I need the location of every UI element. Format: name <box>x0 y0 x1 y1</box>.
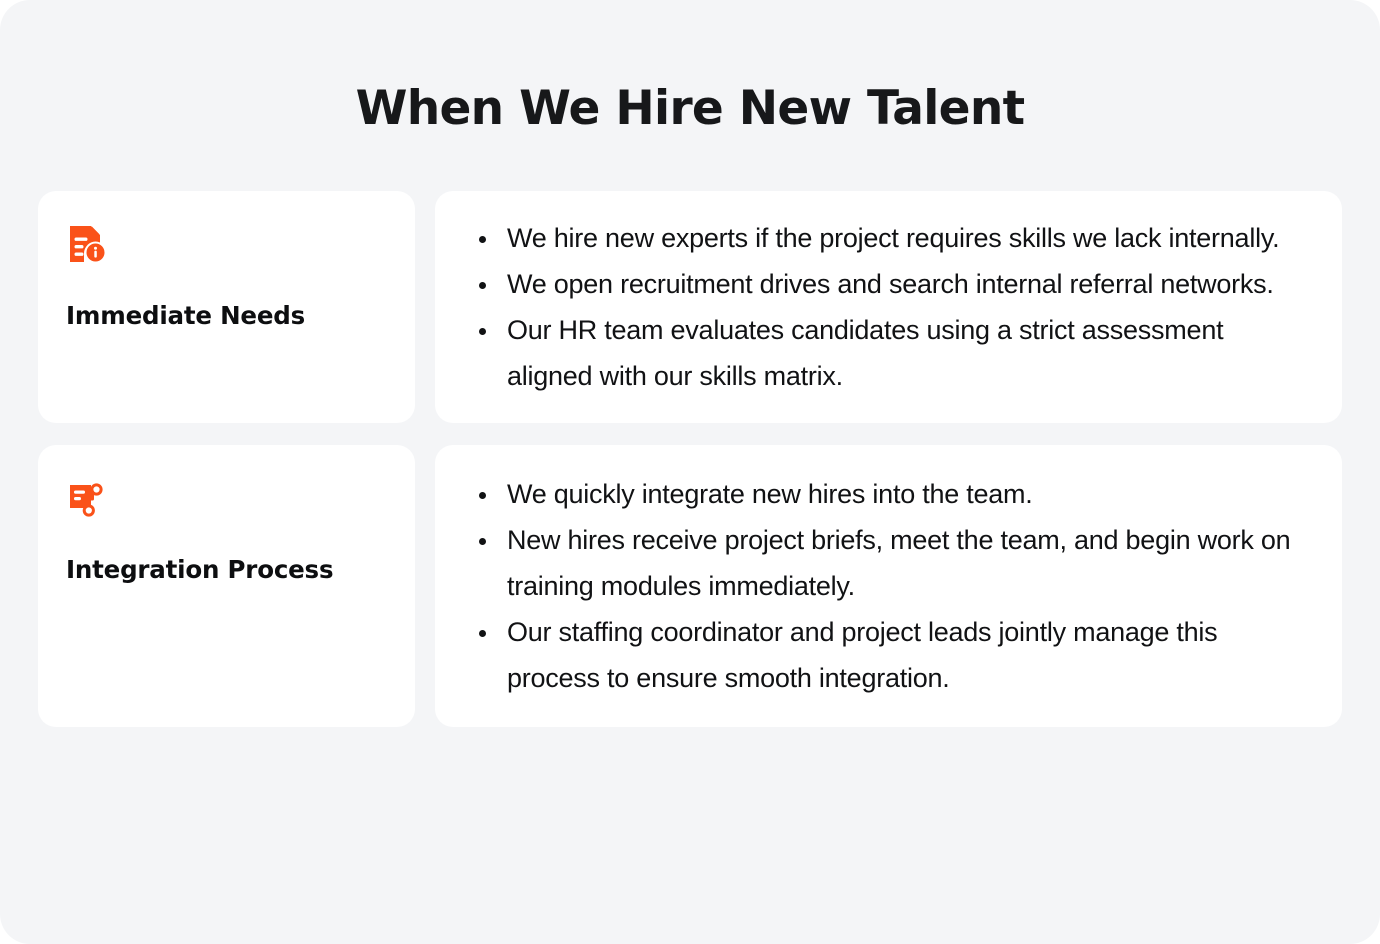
list-item: Our HR team evaluates candidates using a… <box>465 307 1306 399</box>
list-item: New hires receive project briefs, meet t… <box>465 517 1306 609</box>
page-title: When We Hire New Talent <box>0 0 1380 136</box>
bullet-list: We quickly integrate new hires into the … <box>465 471 1306 701</box>
section-label-card-integration-process[interactable]: Integration Process <box>38 445 415 727</box>
section-content-card-integration-process: We quickly integrate new hires into the … <box>435 445 1342 727</box>
list-item: We open recruitment drives and search in… <box>465 261 1306 307</box>
section-row: Immediate Needs We hire new experts if t… <box>38 191 1342 423</box>
page-canvas: When We Hire New Talent <box>0 0 1380 944</box>
section-label-text: Immediate Needs <box>66 301 387 330</box>
list-item: Our staffing coordinator and project lea… <box>465 609 1306 701</box>
section-list: Immediate Needs We hire new experts if t… <box>0 191 1380 727</box>
list-item: We hire new experts if the project requi… <box>465 215 1306 261</box>
section-label-card-immediate-needs[interactable]: Immediate Needs <box>38 191 415 423</box>
bullet-list: We hire new experts if the project requi… <box>465 215 1306 399</box>
list-item: We quickly integrate new hires into the … <box>465 471 1306 517</box>
document-info-icon <box>66 223 108 265</box>
section-label-text: Integration Process <box>66 555 387 584</box>
section-row: Integration Process We quickly integrate… <box>38 445 1342 727</box>
section-content-card-immediate-needs: We hire new experts if the project requi… <box>435 191 1342 423</box>
workflow-nodes-icon <box>66 477 108 519</box>
